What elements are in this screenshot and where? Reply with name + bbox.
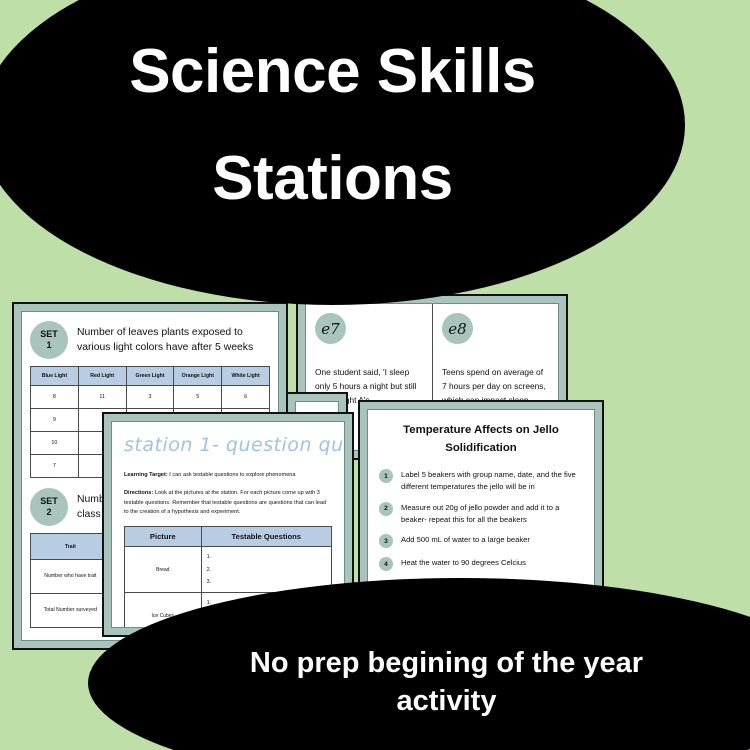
title-line-1: Science Skills xyxy=(129,39,536,104)
set-badge-word: SET xyxy=(40,329,58,340)
data-set-1-header: SET 1 Number of leaves plants exposed to… xyxy=(30,321,270,359)
table-cell: Total Number surveyed xyxy=(31,594,111,628)
set-badge-number: 2 xyxy=(46,507,51,518)
evidence-card-label-e8: e8 xyxy=(442,313,473,344)
title-banner: Science Skills Stations xyxy=(0,0,685,305)
step-number-badge: 3 xyxy=(379,534,393,548)
step-text: Label 5 beakers with group name, date, a… xyxy=(401,469,583,493)
title-line-2: Stations xyxy=(212,146,453,211)
table-header-row: Blue Light Red Light Green Light Orange … xyxy=(31,367,270,386)
directions-label: Directions: xyxy=(124,490,153,496)
procedure-step: 3 Add 500 mL of water to a large beaker xyxy=(379,534,583,548)
step-text: Measure out 20g of jello powder and add … xyxy=(401,502,583,526)
table-row: 8 11 3 5 6 xyxy=(31,386,270,409)
step-number-badge: 1 xyxy=(379,469,393,483)
column-header: Blue Light xyxy=(31,367,79,386)
set-badge-2: SET 2 xyxy=(30,488,68,526)
step-number-badge: 2 xyxy=(379,502,393,516)
jello-title: Temperature Affects on Jello Solidificat… xyxy=(379,422,583,457)
table-cell: 7 xyxy=(31,455,79,478)
procedure-step: 2 Measure out 20g of jello powder and ad… xyxy=(379,502,583,526)
learning-target-text: I can ask testable questions to explore … xyxy=(168,472,296,478)
column-header: Trait xyxy=(31,534,111,560)
table-cell: 10 xyxy=(31,432,79,455)
column-header-testable-questions: Testable Questions xyxy=(201,527,331,547)
poster-canvas: SET 1 Number of leaves plants exposed to… xyxy=(0,0,750,750)
table-cell: 8 xyxy=(31,386,79,409)
subtitle-text: No prep begining of the year activity xyxy=(212,645,682,720)
step-text: Add 500 mL of water to a large beaker xyxy=(401,534,530,548)
table-header-row: Picture Testable Questions xyxy=(125,527,332,547)
column-header: Green Light xyxy=(126,367,174,386)
picture-label: Bread xyxy=(125,547,202,593)
procedure-step: 4 Heat the water to 90 degrees Celcius xyxy=(379,557,583,571)
column-header-picture: Picture xyxy=(125,527,202,547)
step-text: Heat the water to 90 degrees Celcius xyxy=(401,557,526,571)
data-set-1-title: Number of leaves plants exposed to vario… xyxy=(77,325,270,355)
set-badge-number: 1 xyxy=(46,340,51,351)
table-row: Bread 1. 2. 3. xyxy=(125,547,332,593)
step-number-badge: 4 xyxy=(379,557,393,571)
directions-text: Look at the pictures at the station. For… xyxy=(124,490,326,516)
learning-target: Learning Target: I can ask testable ques… xyxy=(124,471,332,481)
procedure-step: 1 Label 5 beakers with group name, date,… xyxy=(379,469,583,493)
set-badge-1: SET 1 xyxy=(30,321,68,359)
table-cell: 9 xyxy=(31,409,79,432)
station-title: station 1- question quest xyxy=(124,434,332,456)
table-cell: 3 xyxy=(126,386,174,409)
column-header: Orange Light xyxy=(174,367,222,386)
column-header: Red Light xyxy=(78,367,126,386)
table-cell: 11 xyxy=(78,386,126,409)
learning-target-label: Learning Target: xyxy=(124,472,168,478)
column-header: White Light xyxy=(222,367,270,386)
set-badge-word: SET xyxy=(40,496,58,507)
table-cell: Number who have trait xyxy=(31,560,111,594)
evidence-card-label-e7: e7 xyxy=(315,313,346,344)
table-cell: 6 xyxy=(222,386,270,409)
table-cell: 5 xyxy=(174,386,222,409)
directions: Directions: Look at the pictures at the … xyxy=(124,489,332,518)
